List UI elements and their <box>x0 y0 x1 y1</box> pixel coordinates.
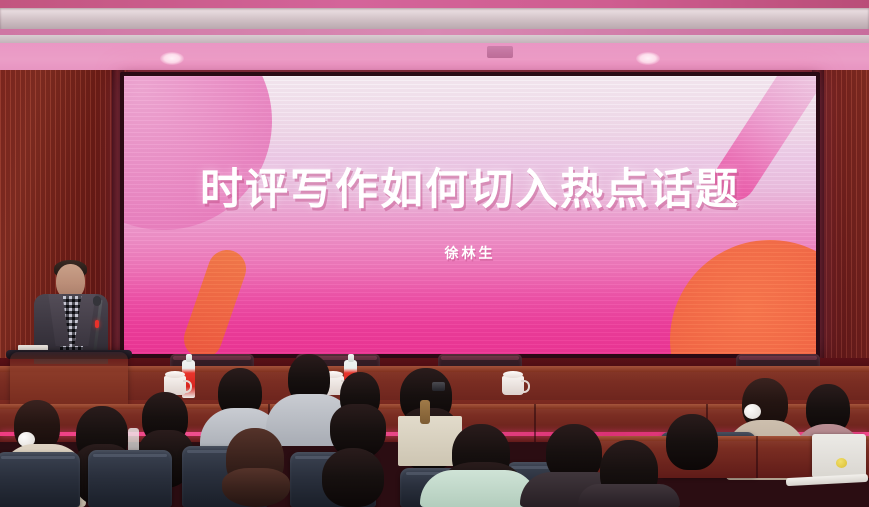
ceiling-vent <box>487 46 513 58</box>
desk-panel-seam <box>756 436 758 478</box>
projection-screen: 时评写作如何切入热点话题 徐林生 <box>124 76 816 354</box>
slide-author: 徐林生 <box>445 243 496 263</box>
audience-ponytail <box>222 468 290 507</box>
auditorium-seat[interactable] <box>88 450 172 507</box>
hair-scrunchie <box>744 404 761 419</box>
lecture-hall-scene: 时评写作如何切入热点话题 徐林生 <box>0 0 869 507</box>
audience-head <box>666 414 718 470</box>
audience-head <box>322 448 384 507</box>
projection-screen-frame: 时评写作如何切入热点话题 徐林生 <box>120 72 820 358</box>
ceiling-trim-band <box>0 8 869 30</box>
microphone-indicator-light <box>95 320 99 328</box>
audience-shoulders <box>578 484 680 507</box>
hair-clip <box>432 382 445 391</box>
ceiling-downlight <box>636 52 660 65</box>
slide-content: 时评写作如何切入热点话题 徐林生 <box>124 76 816 354</box>
microphone-head <box>93 296 101 306</box>
laptop-sticker <box>836 458 847 468</box>
tea-mug <box>502 376 524 395</box>
laptop-lid[interactable] <box>812 434 866 478</box>
slide-title: 时评写作如何切入热点话题 <box>200 167 740 214</box>
ceiling <box>0 0 869 74</box>
auditorium-seat[interactable] <box>0 452 80 507</box>
desk-panel-seam <box>534 404 536 442</box>
tote-bag-strap <box>420 400 430 424</box>
ceiling-downlight <box>160 52 184 65</box>
